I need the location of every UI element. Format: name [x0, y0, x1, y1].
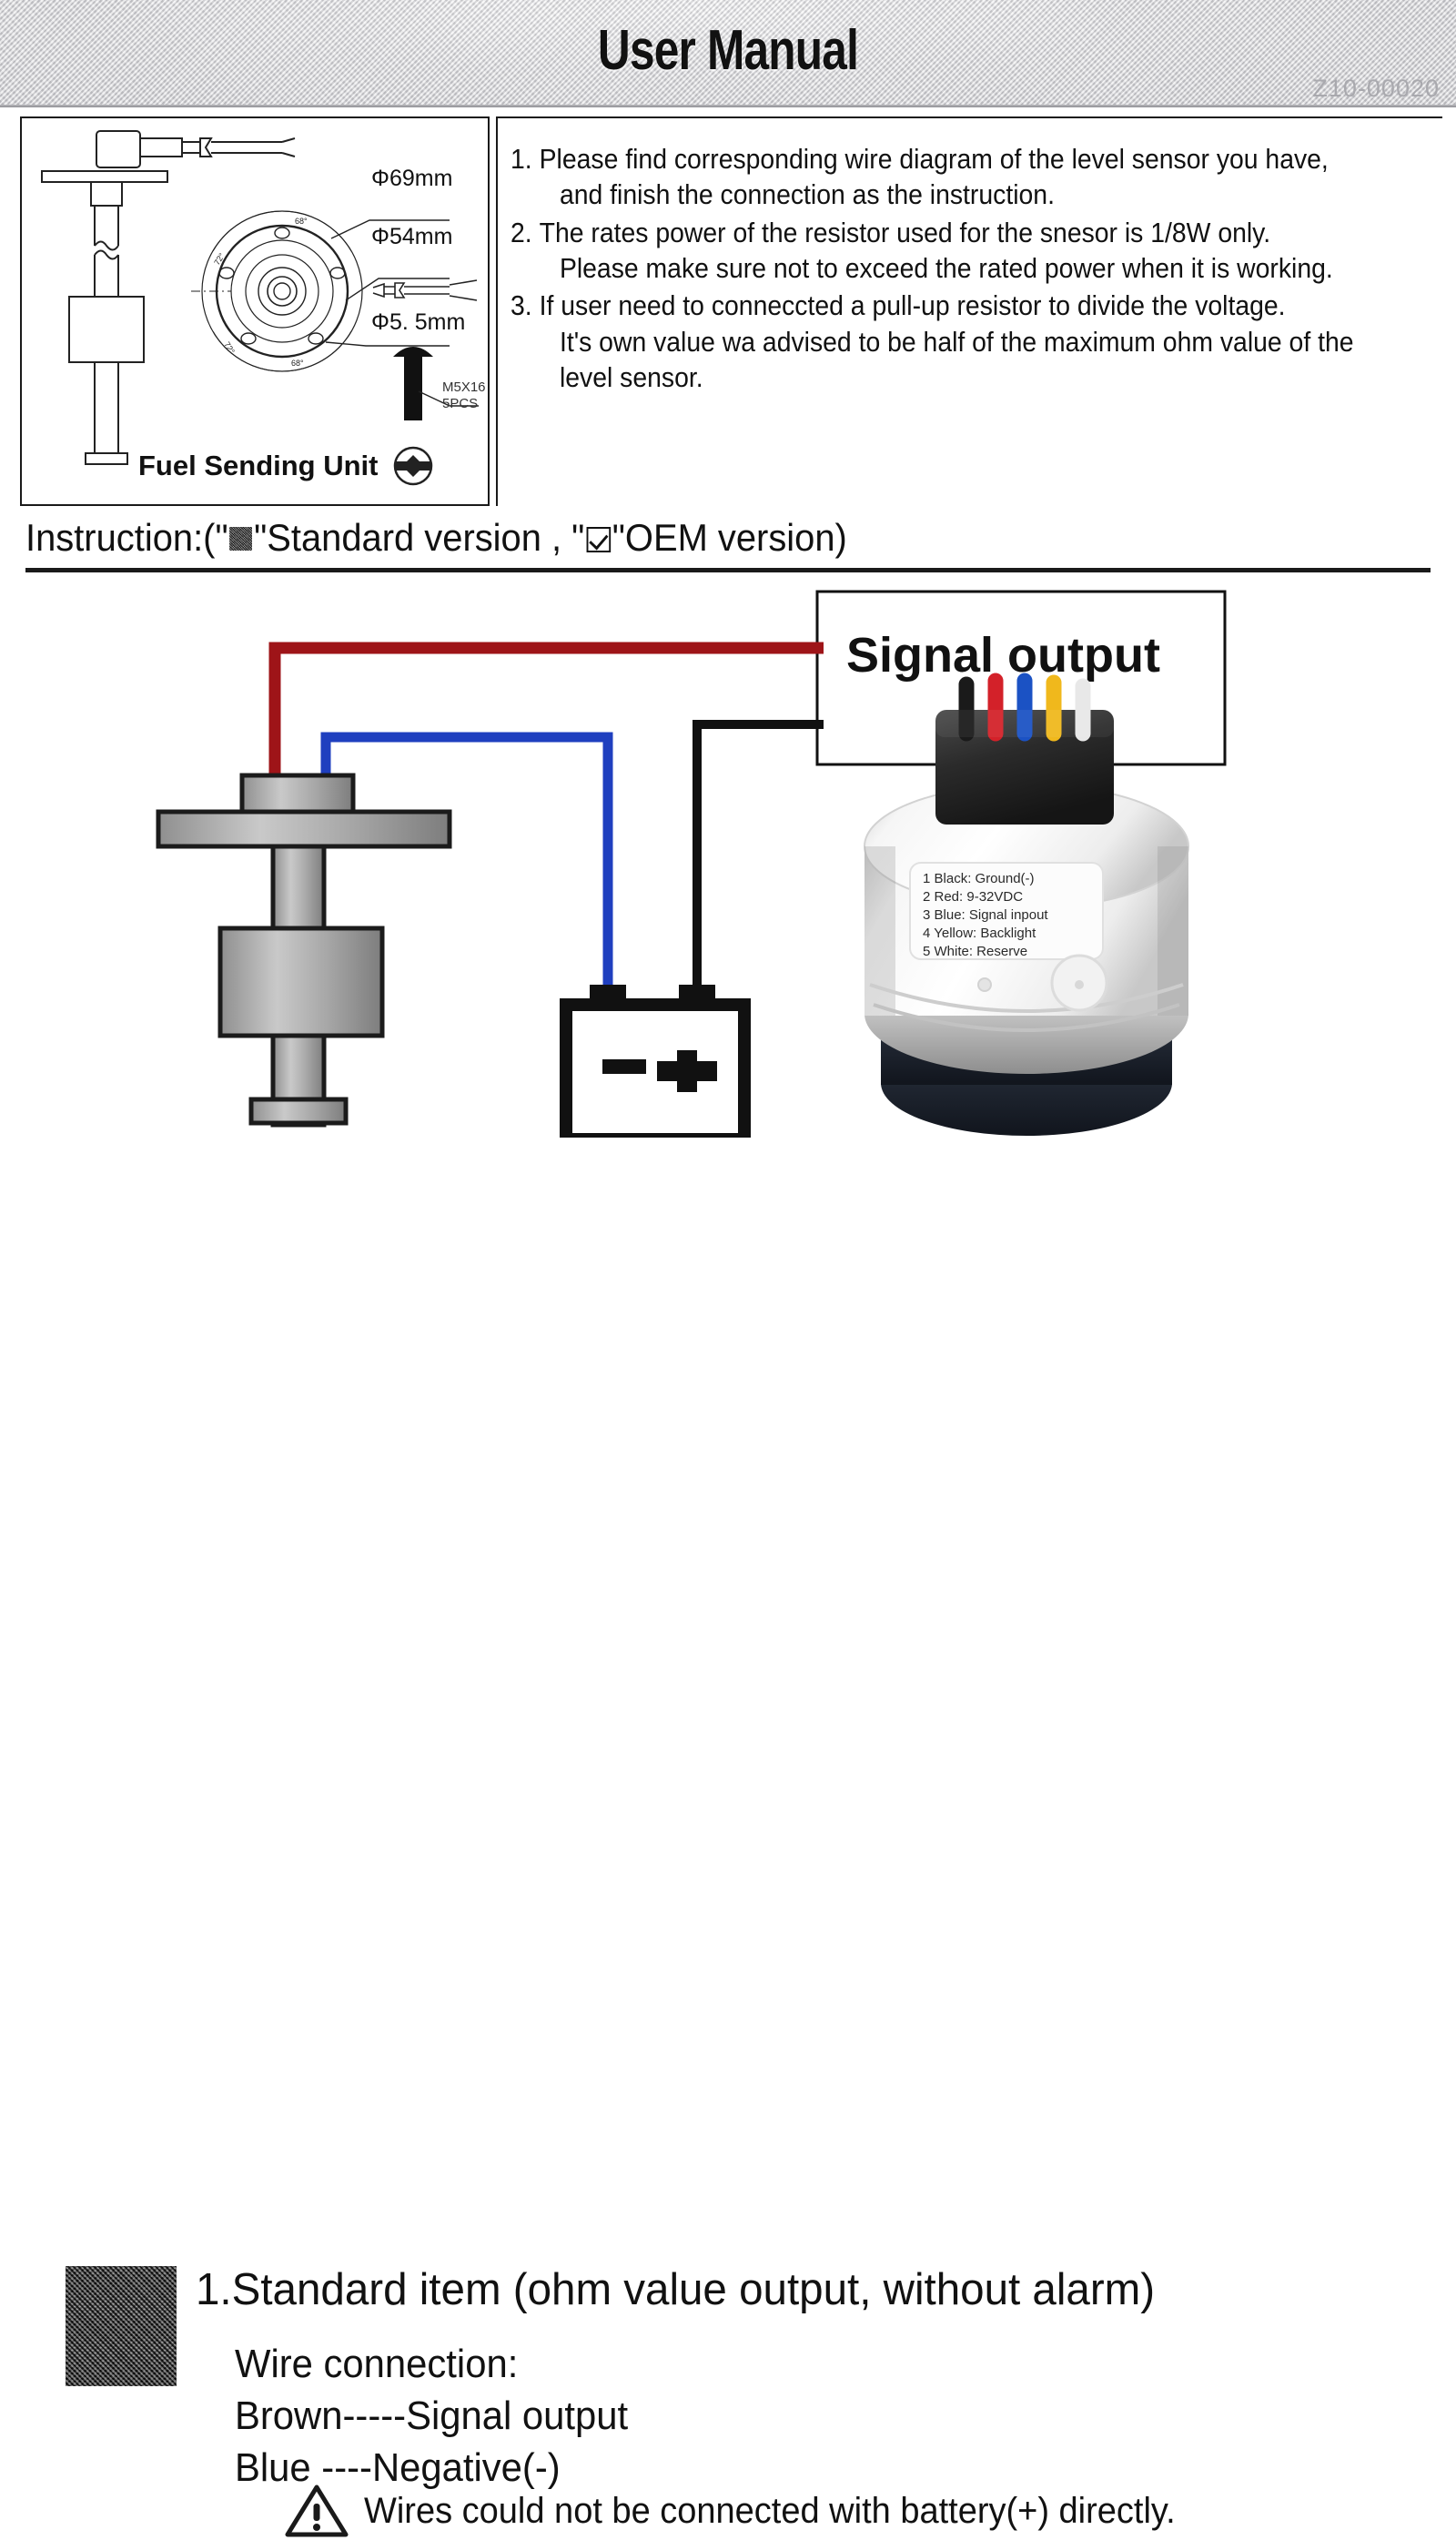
notes-list: 1. Please find corresponding wire diagra…: [498, 118, 1442, 396]
angle-label-68-top: 68°: [295, 217, 308, 226]
phillips-head-icon: [395, 448, 431, 484]
screw-spec-label: M5X16: [442, 379, 486, 395]
screw-qty-label: 5PCS: [442, 396, 478, 411]
checked-box-icon: [586, 527, 611, 552]
note-line: If user need to conneccted a pull-up res…: [540, 288, 1370, 324]
note-item: 3. If user need to conneccted a pull-up …: [511, 288, 1370, 396]
bottom-description: 1.Standard item (ohm value output, witho…: [0, 1128, 1456, 1456]
sender-technical-drawing: 68° 72° 72° 68° Φ69mm Φ54mm Φ5. 5mm: [22, 118, 488, 504]
signal-output-label: Signal output: [846, 628, 1160, 683]
gauge-legend-line: 1 Black: Ground(-): [923, 871, 1035, 886]
dimension-label-69mm: Φ69mm: [371, 166, 452, 191]
note-text: The rates power of the resistor used for…: [540, 216, 1370, 288]
filled-square-icon: [230, 527, 253, 551]
instruction-prefix: Instruction:(": [25, 516, 228, 560]
battery-symbol: [566, 985, 744, 1138]
note-line: It's own value wa advised to be half of …: [540, 325, 1370, 360]
note-text: Please find corresponding wire diagram o…: [540, 142, 1370, 214]
note-text: If user need to conneccted a pull-up res…: [540, 288, 1370, 396]
note-line: The rates power of the resistor used for…: [540, 216, 1370, 251]
standard-item-heading: 1.Standard item (ohm value output, witho…: [196, 2264, 1155, 2315]
wire-signal-red: [275, 648, 824, 781]
technical-drawing-panel: 68° 72° 72° 68° Φ69mm Φ54mm Φ5. 5mm: [20, 116, 490, 506]
dimension-label-54mm: Φ54mm: [371, 224, 452, 249]
note-number: 2.: [511, 216, 540, 251]
notes-panel: 1. Please find corresponding wire diagra…: [496, 116, 1442, 506]
standard-version-label: "Standard version , ": [254, 516, 584, 560]
document-code: Z10-00020: [1312, 75, 1440, 103]
gauge-legend-line: 2 Red: 9-32VDC: [923, 889, 1023, 905]
drawing-caption: Fuel Sending Unit: [138, 450, 379, 481]
warning-row: Wires could not be connected with batter…: [284, 2482, 1218, 2540]
standard-item-marker-icon: [66, 2266, 177, 2386]
instruction-legend: Instruction:(" "Standard version , " "OE…: [25, 510, 1357, 566]
wire-connection-block: Wire connection: Brown-----Signal output…: [235, 2339, 628, 2494]
warning-text: Wires could not be connected with batter…: [364, 2491, 1176, 2532]
wire-connection-title: Wire connection:: [235, 2339, 628, 2391]
note-number: 3.: [511, 288, 540, 324]
gauge-legend-line: 3 Blue: Signal inpout: [923, 907, 1048, 923]
wire-connection-row: Brown-----Signal output: [235, 2391, 628, 2443]
wire-ground-black: [697, 724, 824, 985]
note-number: 1.: [511, 142, 540, 177]
battery-negative-terminal: [602, 1059, 646, 1074]
warning-triangle-icon: [284, 2482, 349, 2540]
angle-label-68-bottom: 68°: [291, 359, 304, 368]
note-item: 2. The rates power of the resistor used …: [511, 216, 1370, 288]
angle-label-72-left: 72°: [212, 251, 227, 267]
oem-version-label: "OEM version): [612, 516, 847, 560]
page-header: User Manual Z10-00020: [0, 0, 1456, 107]
section-divider: [25, 568, 1431, 572]
gauge-legend-line: 5 White: Reserve: [923, 944, 1027, 959]
note-line: Please find corresponding wire diagram o…: [540, 142, 1370, 177]
page-title: User Manual: [146, 18, 1310, 83]
note-line: Please make sure not to exceed the rated…: [540, 251, 1370, 287]
note-item: 1. Please find corresponding wire diagra…: [511, 142, 1370, 214]
wiring-diagram: Signal output: [0, 573, 1456, 1138]
gauge-legend-line: 4 Yellow: Backlight: [923, 926, 1036, 941]
dimension-label-5-5mm: Φ5. 5mm: [371, 309, 465, 335]
note-line: and finish the connection as the instruc…: [540, 177, 1370, 213]
angle-label-72-bottom: 72°: [222, 340, 237, 356]
fuel-sender-schematic: [158, 775, 450, 1125]
note-line: level sensor.: [540, 360, 1370, 396]
